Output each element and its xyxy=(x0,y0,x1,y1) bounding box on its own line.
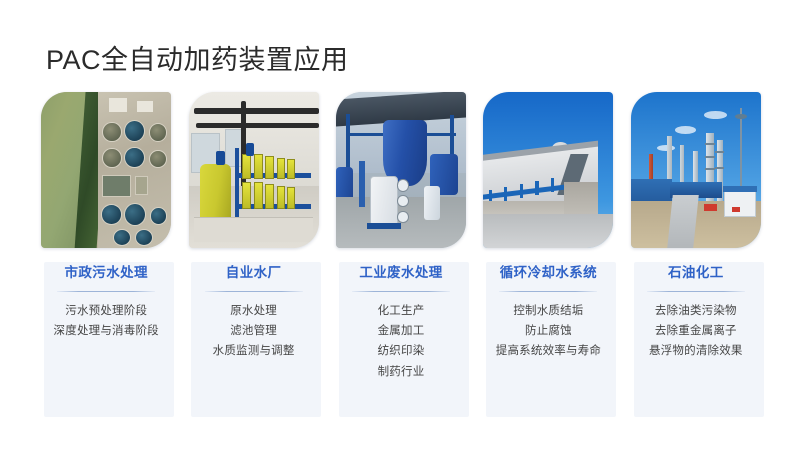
card-heading: 自业水厂 xyxy=(226,266,282,280)
card-heading: 循环冷却水系统 xyxy=(500,266,597,280)
bullet-item: 污水预处理阶段 xyxy=(65,304,147,318)
card-bullets: 化工生产 金属加工 纺织印染 制药行业 xyxy=(378,304,425,380)
page-title: PAC全自动加药装置应用 xyxy=(46,38,349,77)
card-photo xyxy=(483,92,613,248)
photo-petrochemical-refinery xyxy=(631,92,761,248)
bullet-item: 深度处理与消毒阶段 xyxy=(54,324,159,338)
card-self-waterworks[interactable]: 自业水厂 原水处理 滤池管理 水质监测与调整 xyxy=(187,88,319,418)
card-industrial-wastewater[interactable]: 工业废水处理 化工生产 金属加工 纺织印染 制药行业 xyxy=(335,88,467,418)
slide-root: PAC全自动加药装置应用 xyxy=(0,0,800,450)
bullet-item: 悬浮物的清除效果 xyxy=(649,344,743,358)
bullet-item: 滤池管理 xyxy=(230,324,277,338)
photo-dosing-equipment-room xyxy=(189,92,319,248)
card-photo xyxy=(336,92,466,248)
photo-industrial-blue-tank xyxy=(336,92,466,248)
card-body: 循环冷却水系统 控制水质结垢 防止腐蚀 提高系统效率与寿命 xyxy=(483,266,613,359)
card-heading: 石油化工 xyxy=(668,266,724,280)
bullet-item: 去除油类污染物 xyxy=(655,304,737,318)
bullet-item: 去除重金属离子 xyxy=(655,324,737,338)
card-divider xyxy=(352,291,450,292)
bullet-item: 控制水质结垢 xyxy=(513,304,583,318)
card-bullets: 污水预处理阶段 深度处理与消毒阶段 xyxy=(54,304,159,339)
card-body: 自业水厂 原水处理 滤池管理 水质监测与调整 xyxy=(189,266,319,359)
card-petrochemical[interactable]: 石油化工 去除油类污染物 去除重金属离子 悬浮物的清除效果 xyxy=(630,88,762,418)
card-photo xyxy=(189,92,319,248)
card-divider xyxy=(205,291,303,292)
photo-municipal-sewage-aerial xyxy=(41,92,171,248)
card-heading: 工业废水处理 xyxy=(359,266,442,280)
bullet-item: 水质监测与调整 xyxy=(213,344,295,358)
card-body: 工业废水处理 化工生产 金属加工 纺织印染 制药行业 xyxy=(336,266,466,379)
photo-cooling-tower-building xyxy=(483,92,613,248)
card-divider xyxy=(499,291,597,292)
card-divider xyxy=(57,291,155,292)
card-divider xyxy=(647,291,745,292)
bullet-item: 原水处理 xyxy=(230,304,277,318)
card-photo xyxy=(631,92,761,248)
card-photo xyxy=(41,92,171,248)
card-bullets: 原水处理 滤池管理 水质监测与调整 xyxy=(213,304,295,359)
card-bullets: 去除油类污染物 去除重金属离子 悬浮物的清除效果 xyxy=(649,304,743,359)
bullet-item: 制药行业 xyxy=(378,365,425,379)
card-bullets: 控制水质结垢 防止腐蚀 提高系统效率与寿命 xyxy=(496,304,601,359)
card-cooling-water-system[interactable]: 循环冷却水系统 控制水质结垢 防止腐蚀 提高系统效率与寿命 xyxy=(482,88,614,418)
card-body: 石油化工 去除油类污染物 去除重金属离子 悬浮物的清除效果 xyxy=(631,266,761,359)
card-body: 市政污水处理 污水预处理阶段 深度处理与消毒阶段 xyxy=(41,266,171,338)
bullet-item: 防止腐蚀 xyxy=(525,324,572,338)
bullet-item: 金属加工 xyxy=(378,324,425,338)
bullet-item: 提高系统效率与寿命 xyxy=(496,344,601,358)
card-municipal-sewage[interactable]: 市政污水处理 污水预处理阶段 深度处理与消毒阶段 xyxy=(40,88,172,418)
card-heading: 市政污水处理 xyxy=(65,266,148,280)
bullet-item: 纺织印染 xyxy=(378,344,425,358)
bullet-item: 化工生产 xyxy=(378,304,425,318)
card-list: 市政污水处理 污水预处理阶段 深度处理与消毒阶段 xyxy=(40,88,762,418)
